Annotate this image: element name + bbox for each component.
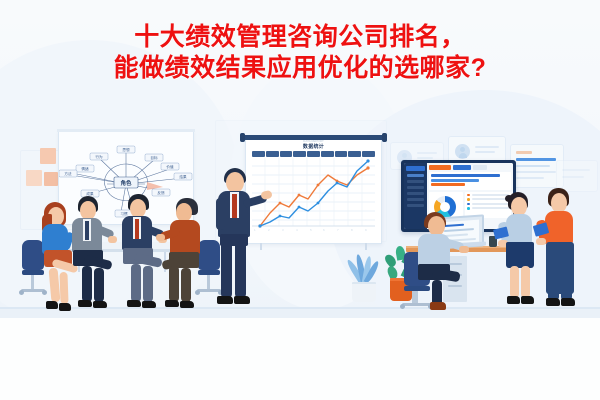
toolbar-chip-secondary[interactable]	[453, 165, 471, 170]
sidebar-item-3[interactable]	[407, 186, 424, 189]
svg-text:行为: 行为	[95, 154, 103, 159]
sidebar-item-4[interactable]	[407, 192, 424, 195]
bottom-white-area	[0, 318, 600, 400]
sidebar-item-6[interactable]	[407, 204, 424, 207]
illustration-banner: 角色 思想 行为 目标 情绪 方法 价值 成果 反馈 结果 习惯 DATA RE…	[0, 0, 600, 400]
person-presenter	[216, 168, 268, 310]
person-woman-orange-standing	[540, 188, 586, 314]
bar-metric-2	[431, 179, 479, 182]
sticky-note-3	[44, 172, 58, 186]
person-woman-blue-standing	[500, 192, 544, 314]
toolbar-chip-tertiary[interactable]	[473, 165, 487, 170]
person-man-gray-suit	[70, 196, 116, 312]
dashboard-logo	[406, 166, 425, 171]
bar-metric-3	[431, 183, 465, 186]
avatar-icon	[455, 144, 470, 159]
svg-text:情绪: 情绪	[81, 166, 89, 171]
page-title: 十大绩效管理咨询公司排名， 能做绩效结果应用优化的选哪家?	[0, 22, 600, 84]
svg-text:结果: 结果	[179, 174, 187, 179]
dashboard-toolbar[interactable]	[429, 165, 511, 170]
whiteboard-leg-right	[365, 243, 367, 250]
whiteboard-knob-right	[382, 133, 387, 142]
svg-text:思想: 思想	[122, 147, 130, 152]
series-orange	[260, 168, 368, 226]
sidebar-item-1[interactable]	[407, 174, 424, 177]
person-man-seated	[418, 212, 464, 312]
sticky-note-2	[26, 170, 42, 186]
svg-text:角色: 角色	[120, 179, 132, 187]
svg-text:目标: 目标	[150, 155, 158, 160]
sidebar-item-2[interactable]	[407, 180, 424, 183]
chart-title: 数据统计	[246, 143, 381, 150]
toolbar-chip-primary[interactable]	[429, 165, 451, 170]
whiteboard-knob-left	[240, 133, 245, 142]
bar-metric-1	[431, 174, 500, 177]
svg-text:价值: 价值	[166, 164, 174, 169]
sidebar-item-5[interactable]	[407, 198, 424, 201]
svg-text:方法: 方法	[64, 171, 72, 176]
dashboard-bar-card	[429, 172, 511, 190]
series-blue	[260, 161, 368, 226]
headline-line-1: 十大绩效管理咨询公司排名，	[0, 22, 600, 53]
person-man-rust-shirt	[160, 198, 210, 312]
sticky-note-1	[40, 148, 56, 164]
headline-line-2: 能做绩效结果应用优化的选哪家?	[0, 53, 600, 84]
person-man-navy-suit	[118, 194, 166, 312]
